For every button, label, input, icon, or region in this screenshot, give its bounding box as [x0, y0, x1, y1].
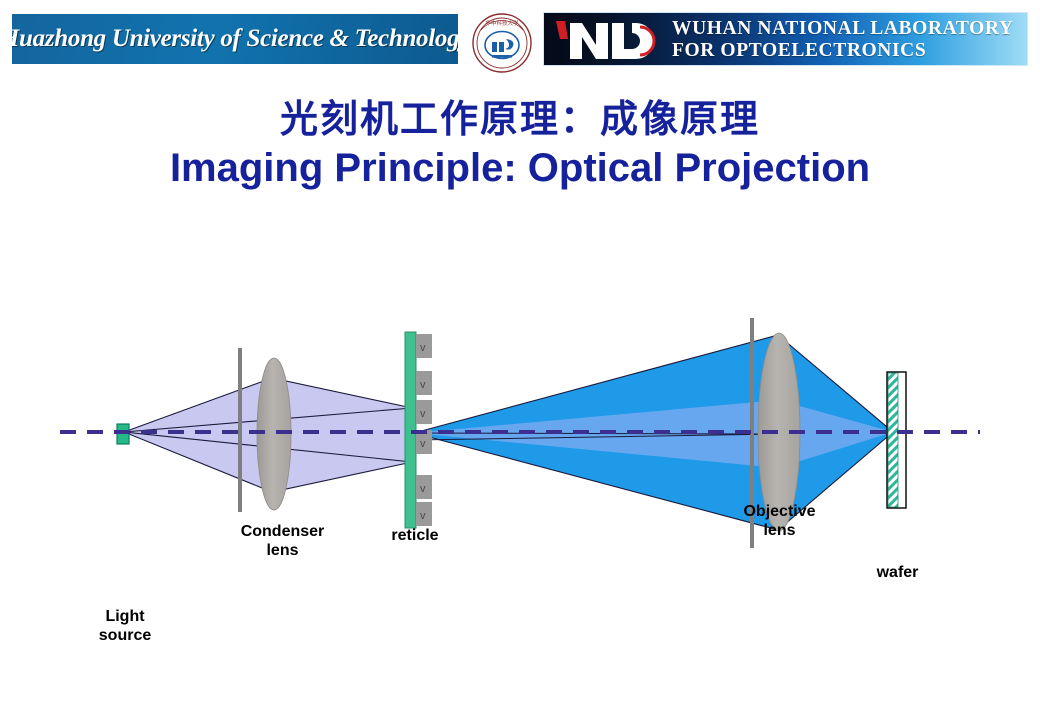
page-title-chinese: 光刻机工作原理：成像原理	[0, 96, 1040, 142]
title-block: 光刻机工作原理：成像原理 Imaging Principle: Optical …	[0, 96, 1040, 192]
page-title-english: Imaging Principle: Optical Projection	[0, 144, 1040, 192]
wnlo-banner-line1: WUHAN NATIONAL LABORATORY	[672, 18, 1014, 40]
hust-banner: Huazhong University of Science & Technol…	[10, 12, 460, 66]
svg-text:v: v	[420, 342, 426, 354]
wnlo-banner: WUHAN NATIONAL LABORATORY FOR OPTOELECTR…	[543, 12, 1028, 66]
svg-text:v: v	[420, 510, 426, 522]
svg-text:v: v	[420, 379, 426, 391]
svg-text:v: v	[420, 408, 426, 420]
hust-banner-label: Huazhong University of Science & Technol…	[10, 25, 460, 53]
label-condenser-lens: Condenser lens	[210, 522, 355, 560]
label-wafer: wafer	[840, 563, 955, 582]
wnlo-banner-line2: FOR OPTOELECTRONICS	[672, 40, 1014, 62]
wnlo-logo-icon	[552, 17, 662, 63]
label-reticle: reticle	[360, 526, 470, 545]
hust-university-seal-icon: 华中科技大学	[470, 12, 534, 74]
slide-header: Huazhong University of Science & Technol…	[0, 0, 1040, 86]
label-objective-lens: Objective lens	[712, 502, 847, 540]
slide-canvas: Huazhong University of Science & Technol…	[0, 0, 1040, 720]
optical-projection-diagram: v v v v v v Light source Condenser lens …	[0, 230, 1040, 630]
wnlo-banner-label: WUHAN NATIONAL LABORATORY FOR OPTOELECTR…	[672, 18, 1014, 62]
svg-text:v: v	[420, 438, 426, 450]
svg-text:华中科技大学: 华中科技大学	[485, 19, 519, 27]
svg-text:v: v	[420, 483, 426, 495]
wafer-element	[887, 372, 906, 508]
label-light-source: Light source	[70, 607, 180, 645]
